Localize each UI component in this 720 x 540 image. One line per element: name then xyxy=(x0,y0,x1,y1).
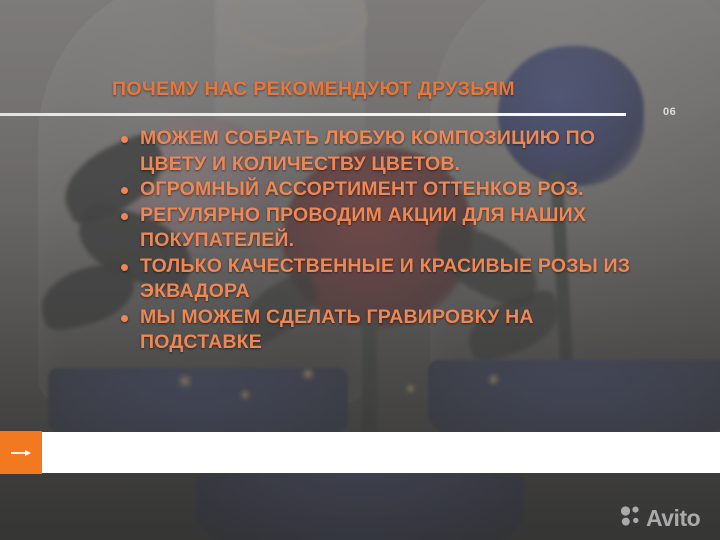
presentation-slide: ПОЧЕМУ НАС РЕКОМЕНДУЮТ ДРУЗЬЯМ 06 МОЖЕМ … xyxy=(0,0,720,540)
title-underline-divider xyxy=(0,113,626,116)
list-item: МЫ МОЖЕМ СДЕЛАТЬ ГРАВИРОВКУ НА ПОДСТАВКЕ xyxy=(114,305,644,356)
list-item: ОГРОМНЫЙ АССОРТИМЕНТ ОТТЕНКОВ РОЗ. xyxy=(114,177,644,203)
page-title: ПОЧЕМУ НАС РЕКОМЕНДУЮТ ДРУЗЬЯМ xyxy=(112,78,515,101)
avito-dots-icon xyxy=(620,505,642,532)
benefits-list: МОЖЕМ СОБРАТЬ ЛЮБУЮ КОМПОЗИЦИЮ ПО ЦВЕТУ … xyxy=(114,126,644,356)
page-number: 06 xyxy=(663,106,676,118)
bottom-bar xyxy=(0,432,720,473)
list-item: РЕГУЛЯРНО ПРОВОДИМ АКЦИИ ДЛЯ НАШИХ ПОКУП… xyxy=(114,203,644,254)
avito-wordmark: Avito xyxy=(646,507,700,530)
avito-watermark: Avito xyxy=(620,505,700,532)
list-item: ТОЛЬКО КАЧЕСТВЕННЫЕ И КРАСИВЫЕ РОЗЫ ИЗ Э… xyxy=(114,254,644,305)
next-slide-button[interactable] xyxy=(0,431,42,474)
list-item: МОЖЕМ СОБРАТЬ ЛЮБУЮ КОМПОЗИЦИЮ ПО ЦВЕТУ … xyxy=(114,126,644,177)
arrow-right-icon xyxy=(10,447,32,459)
